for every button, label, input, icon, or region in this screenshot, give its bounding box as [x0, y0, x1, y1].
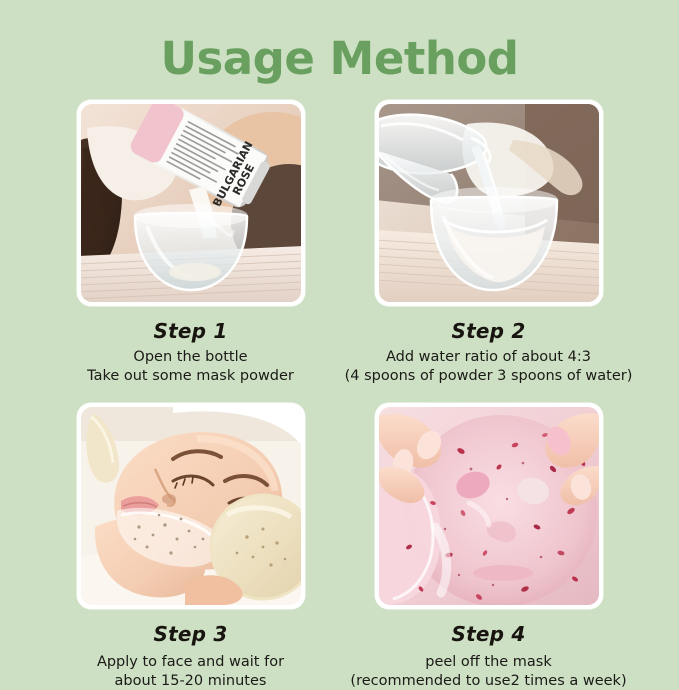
step-3-caption-line-1: Apply to face and wait for — [97, 653, 284, 672]
steps-row-bottom: Step 3 Apply to face and wait for about … — [0, 403, 679, 690]
step-2-caption-line-1: Add water ratio of about 4:3 — [345, 348, 633, 367]
step-2-photo-frame — [375, 100, 603, 306]
step-card-3: Step 3 Apply to face and wait for about … — [77, 403, 305, 690]
step-4-caption-line-1: peel off the mask — [350, 653, 626, 672]
step-2-caption-line-2: (4 spoons of powder 3 spoons of water) — [345, 367, 633, 386]
step-card-2: Step 2 Add water ratio of about 4:3 (4 s… — [375, 100, 603, 385]
step-3-photo-frame — [77, 403, 305, 609]
step-1-caption: Open the bottle Take out some mask powde… — [87, 348, 294, 385]
step-2-label: Step 2 — [452, 319, 526, 343]
step-4-label: Step 4 — [452, 622, 526, 646]
step-4-caption: peel off the mask (recommended to use2 t… — [350, 653, 626, 690]
applying-mask-image — [81, 407, 301, 605]
pouring-water-image — [379, 104, 599, 302]
step-card-1: BULGARIAN ROSE — [77, 100, 305, 385]
step-1-photo-frame: BULGARIAN ROSE — [77, 100, 305, 306]
step-1-label: Step 1 — [154, 319, 228, 343]
step-1-caption-line-1: Open the bottle — [87, 348, 294, 367]
step-1-caption-line-2: Take out some mask powder — [87, 367, 294, 386]
page-title: Usage Method — [0, 34, 679, 84]
step-3-caption-line-2: about 15-20 minutes — [97, 672, 284, 690]
steps-row-top: BULGARIAN ROSE — [0, 100, 679, 385]
step-4-photo-frame — [375, 403, 603, 609]
step-3-label: Step 3 — [154, 622, 228, 646]
step-card-4: Step 4 peel off the mask (recommended to… — [375, 403, 603, 690]
step-4-caption-line-2: (recommended to use2 times a week) — [350, 672, 626, 690]
step-2-caption: Add water ratio of about 4:3 (4 spoons o… — [345, 348, 633, 385]
usage-method-infographic: Usage Method — [0, 0, 679, 679]
peeling-mask-image — [379, 407, 599, 605]
pouring-powder-image: BULGARIAN ROSE — [81, 104, 301, 302]
steps-grid: BULGARIAN ROSE — [0, 100, 679, 690]
step-3-caption: Apply to face and wait for about 15-20 m… — [97, 653, 284, 690]
